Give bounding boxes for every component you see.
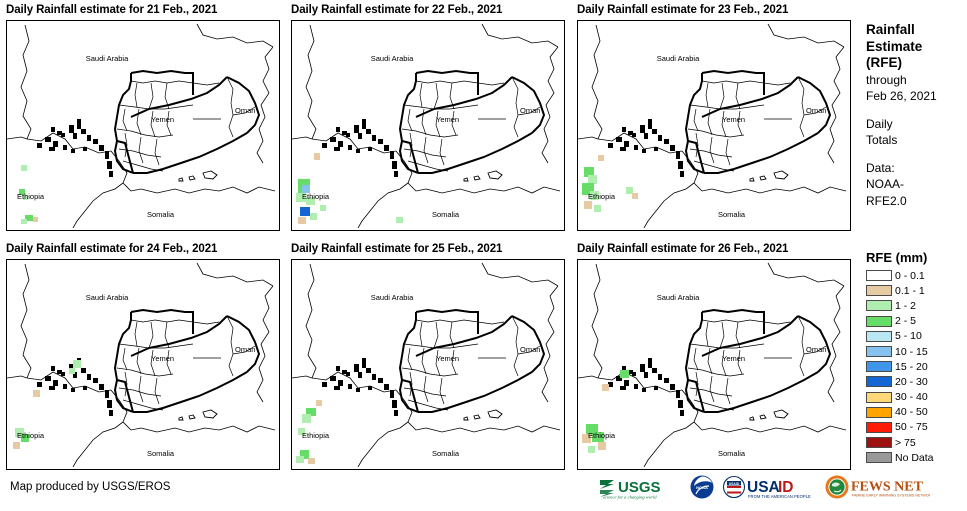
legend-label: > 75 [895, 437, 916, 449]
map-panel-21feb[interactable]: Daily Rainfall estimate for 21 Feb., 202… [6, 2, 217, 18]
panel-title: Daily Rainfall estimate for 21 Feb., 202… [6, 2, 217, 18]
svg-text:Yemen: Yemen [151, 115, 174, 124]
map-graphic: Saudi Arabia Oman Yemen Ethiopia Somalia [292, 260, 562, 467]
fewsnet-logo[interactable]: FEWS NET FAMINE EARLY WARNING SYSTEMS NE… [824, 474, 930, 500]
legend-swatch [866, 392, 892, 403]
legend-item: 5 - 10 [866, 329, 967, 344]
map-canvas[interactable]: Saudi Arabia Oman Yemen Ethiopia Somalia [291, 20, 565, 231]
svg-text:Oman: Oman [806, 345, 826, 354]
legend-item: > 75 [866, 435, 967, 450]
map-graphic: Saudi Arabia Oman Yemen Ethiopia Somalia [578, 260, 848, 467]
sidebar-data-label: Data: [866, 160, 966, 177]
panel-title: Daily Rainfall estimate for 23 Feb., 202… [577, 2, 788, 18]
legend-swatch [866, 361, 892, 372]
map-graphic: Saudi Arabia Oman Yemen Ethiopia Somalia [578, 21, 848, 228]
svg-text:Yemen: Yemen [436, 115, 459, 124]
svg-text:FAMINE EARLY WARNING SYSTEMS N: FAMINE EARLY WARNING SYSTEMS NETWORK [852, 494, 930, 498]
panel-title: Daily Rainfall estimate for 24 Feb., 202… [6, 241, 217, 257]
panel-title: Daily Rainfall estimate for 26 Feb., 202… [577, 241, 788, 257]
legend-item: 0 - 0.1 [866, 268, 967, 283]
svg-text:Oman: Oman [235, 106, 255, 115]
svg-text:Ethiopia: Ethiopia [302, 192, 330, 201]
svg-text:USGS: USGS [618, 479, 661, 496]
svg-text:Ethiopia: Ethiopia [302, 431, 330, 440]
sidebar: Rainfall Estimate (RFE) through Feb 26, … [862, 0, 967, 470]
legend-label: 1 - 2 [895, 300, 916, 312]
svg-text:Yemen: Yemen [722, 115, 745, 124]
usaid-logo[interactable]: USAID USA ID FROM THE AMERICAN PEOPLE [722, 474, 817, 500]
legend-title: RFE (mm) [866, 250, 967, 265]
noaa-logo[interactable]: NOAA [689, 474, 715, 500]
svg-text:Yemen: Yemen [436, 354, 459, 363]
svg-text:Saudi Arabia: Saudi Arabia [86, 54, 129, 63]
svg-text:NOAA: NOAA [696, 485, 708, 490]
legend-item: 50 - 75 [866, 420, 967, 435]
svg-text:Saudi Arabia: Saudi Arabia [86, 293, 129, 302]
svg-text:Oman: Oman [235, 345, 255, 354]
map-graphic: Saudi Arabia Oman Yemen Ethiopia Somalia [7, 21, 277, 228]
legend-swatch [866, 376, 892, 387]
map-canvas[interactable]: Saudi Arabia Oman Yemen Ethiopia Somalia [577, 20, 851, 231]
svg-text:Somalia: Somalia [147, 449, 175, 458]
svg-text:Saudi Arabia: Saudi Arabia [657, 54, 700, 63]
legend: RFE (mm) 0 - 0.10.1 - 11 - 22 - 55 - 101… [862, 250, 967, 465]
legend-item: No Data [866, 450, 967, 465]
legend-item: 1 - 2 [866, 298, 967, 313]
legend-swatch [866, 407, 892, 418]
map-panel-24feb[interactable]: Daily Rainfall estimate for 24 Feb., 202… [6, 241, 217, 257]
map-canvas[interactable]: Saudi Arabia Oman Yemen Ethiopia Somalia [6, 20, 280, 231]
map-canvas[interactable]: Saudi Arabia Oman Yemen Ethiopia Somalia [577, 259, 851, 470]
sidebar-title-line1: Rainfall [866, 22, 966, 39]
svg-text:Saudi Arabia: Saudi Arabia [371, 293, 414, 302]
svg-text:FROM THE AMERICAN PEOPLE: FROM THE AMERICAN PEOPLE [748, 494, 811, 499]
svg-text:science for a changing world: science for a changing world [603, 495, 657, 500]
svg-text:Ethiopia: Ethiopia [17, 431, 45, 440]
svg-text:USAID: USAID [729, 482, 740, 486]
legend-swatch [866, 300, 892, 311]
legend-label: 40 - 50 [895, 406, 928, 418]
svg-text:Somalia: Somalia [718, 449, 746, 458]
sidebar-through-date: Feb 26, 2021 [866, 88, 966, 105]
legend-label: 15 - 20 [895, 361, 928, 373]
map-panel-23feb[interactable]: Daily Rainfall estimate for 23 Feb., 202… [577, 2, 788, 18]
sidebar-totals-line2: Totals [866, 132, 966, 149]
map-panel-25feb[interactable]: Daily Rainfall estimate for 25 Feb., 202… [291, 241, 502, 257]
map-sheet: Daily Rainfall estimate for 21 Feb., 202… [0, 0, 967, 511]
sidebar-data-source-line2: RFE2.0 [866, 193, 966, 210]
map-panel-26feb[interactable]: Daily Rainfall estimate for 26 Feb., 202… [577, 241, 788, 257]
legend-swatch [866, 422, 892, 433]
map-graphic: Saudi Arabia Oman Yemen Ethiopia Somalia [292, 21, 562, 228]
svg-text:Ethiopia: Ethiopia [588, 431, 616, 440]
svg-text:Ethiopia: Ethiopia [588, 192, 616, 201]
legend-label: 30 - 40 [895, 391, 928, 403]
svg-text:Saudi Arabia: Saudi Arabia [657, 293, 700, 302]
svg-text:Ethiopia: Ethiopia [17, 192, 45, 201]
sidebar-totals-line1: Daily [866, 116, 966, 133]
legend-item: 30 - 40 [866, 390, 967, 405]
svg-text:Oman: Oman [520, 106, 540, 115]
legend-rows: 0 - 0.10.1 - 11 - 22 - 55 - 1010 - 1515 … [866, 268, 967, 465]
svg-text:Somalia: Somalia [147, 210, 175, 219]
legend-item: 20 - 30 [866, 374, 967, 389]
legend-label: 0.1 - 1 [895, 285, 925, 297]
legend-swatch [866, 437, 892, 448]
legend-label: 5 - 10 [895, 330, 922, 342]
legend-item: 0.1 - 1 [866, 283, 967, 298]
map-graphic: Saudi Arabia Oman Yemen Ethiopia Somalia [7, 260, 277, 467]
legend-swatch [866, 331, 892, 342]
svg-text:Somalia: Somalia [432, 210, 460, 219]
legend-item: 40 - 50 [866, 405, 967, 420]
svg-text:Oman: Oman [520, 345, 540, 354]
legend-swatch [866, 346, 892, 357]
legend-label: 20 - 30 [895, 376, 928, 388]
sidebar-data-source-line1: NOAA- [866, 176, 966, 193]
legend-swatch [866, 316, 892, 327]
legend-label: 10 - 15 [895, 346, 928, 358]
svg-text:FEWS NET: FEWS NET [851, 480, 924, 495]
sidebar-title-line2: Estimate [866, 39, 966, 56]
svg-text:Yemen: Yemen [151, 354, 174, 363]
map-canvas[interactable]: Saudi Arabia Oman Yemen Ethiopia Somalia [6, 259, 280, 470]
legend-item: 15 - 20 [866, 359, 967, 374]
svg-text:Somalia: Somalia [718, 210, 746, 219]
map-panel-22feb[interactable]: Daily Rainfall estimate for 22 Feb., 202… [291, 2, 502, 18]
svg-text:Oman: Oman [806, 106, 826, 115]
legend-item: 10 - 15 [866, 344, 967, 359]
svg-text:Saudi Arabia: Saudi Arabia [371, 54, 414, 63]
legend-swatch [866, 285, 892, 296]
svg-text:Yemen: Yemen [722, 354, 745, 363]
sidebar-title-line3: (RFE) [866, 55, 966, 72]
panel-title: Daily Rainfall estimate for 22 Feb., 202… [291, 2, 502, 18]
footer-credit: Map produced by USGS/EROS [10, 481, 170, 493]
legend-swatch [866, 270, 892, 281]
map-canvas[interactable]: Saudi Arabia Oman Yemen Ethiopia Somalia [291, 259, 565, 470]
legend-swatch [866, 452, 892, 463]
legend-label: 50 - 75 [895, 421, 928, 433]
legend-label: 2 - 5 [895, 315, 916, 327]
legend-label: 0 - 0.1 [895, 270, 925, 282]
svg-text:Somalia: Somalia [432, 449, 460, 458]
sidebar-through-label: through [866, 72, 966, 89]
legend-label: No Data [895, 452, 934, 464]
legend-item: 2 - 5 [866, 314, 967, 329]
agency-logos: USGS science for a changing world NOAA U… [598, 474, 930, 500]
usgs-logo[interactable]: USGS science for a changing world [598, 474, 682, 500]
panel-title: Daily Rainfall estimate for 25 Feb., 202… [291, 241, 502, 257]
